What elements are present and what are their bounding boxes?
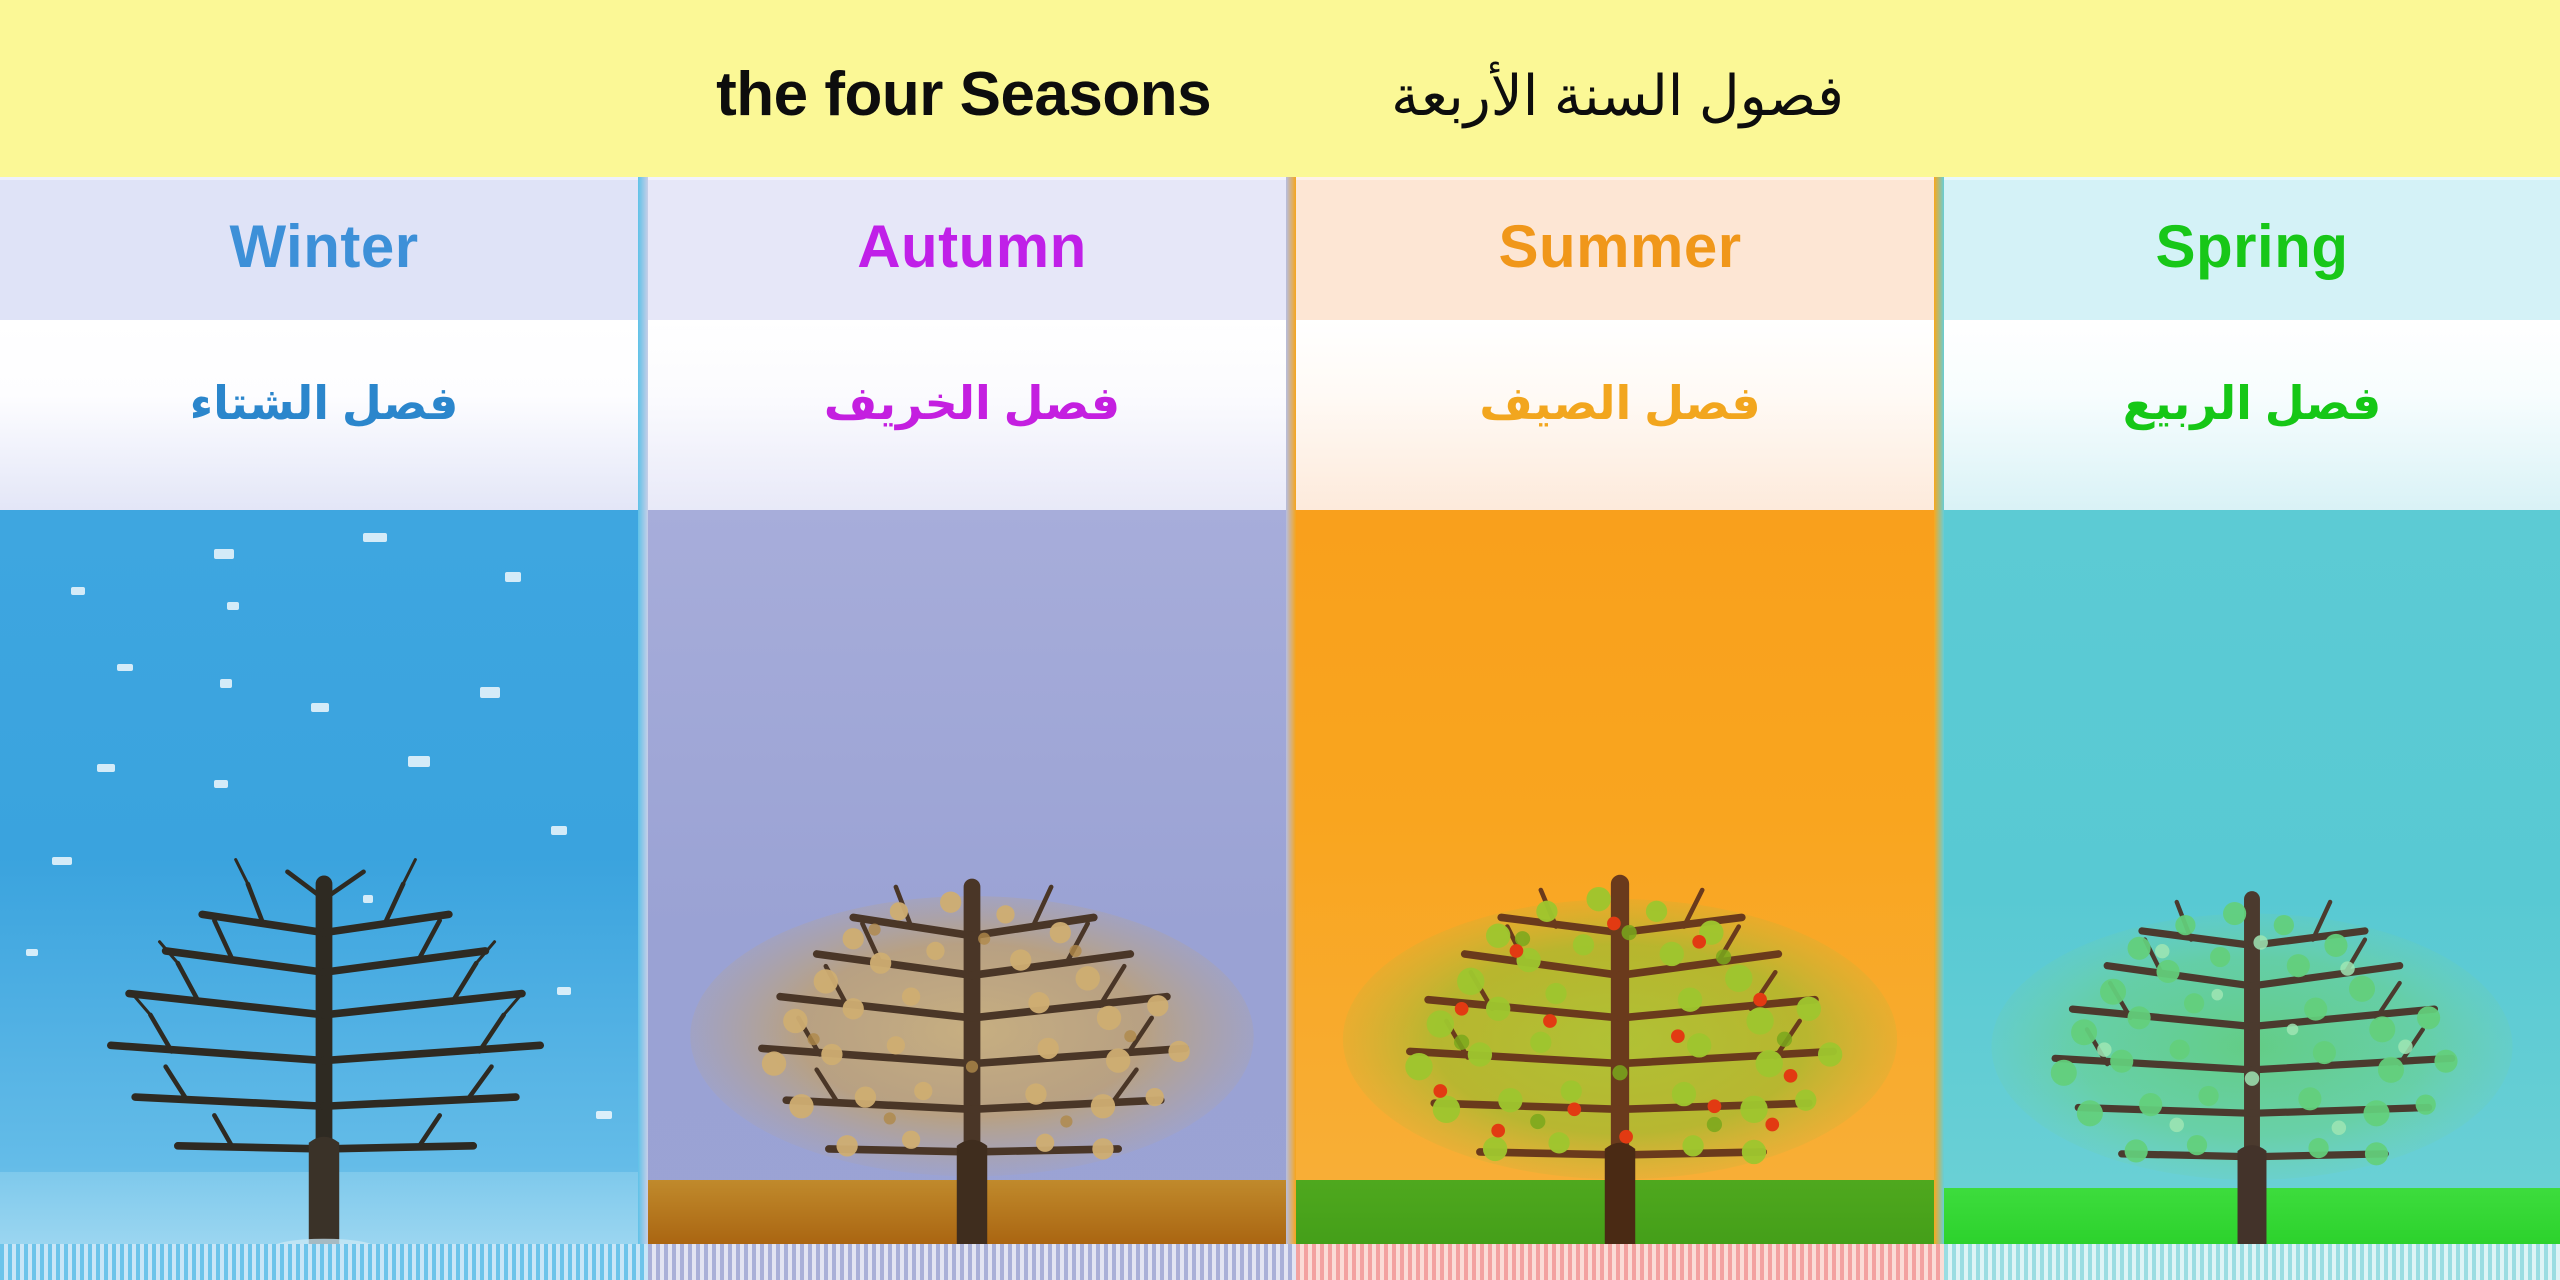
bottom-strip-spring bbox=[1944, 1244, 2560, 1280]
bottom-strip-summer bbox=[1296, 1244, 1944, 1280]
season-name-band-winter: Winter bbox=[0, 177, 648, 320]
header-titles: the four Seasons فصول السنة الأربعة bbox=[716, 59, 1844, 130]
season-column-spring[interactable]: Spring فصل الربيع bbox=[1944, 177, 2560, 1280]
tree-illustration-spring bbox=[1962, 695, 2541, 1249]
page-title-english: the four Seasons bbox=[716, 59, 1211, 130]
season-name-arabic-spring: فصل الربيع bbox=[2123, 376, 2381, 430]
seasons-poster: the four Seasons فصول السنة الأربعة Wint… bbox=[0, 0, 2560, 1280]
bottom-texture-strip bbox=[0, 1244, 2560, 1280]
season-scene-spring bbox=[1944, 510, 2560, 1280]
tree-illustration-autumn bbox=[667, 695, 1276, 1249]
season-name-arabic-summer: فصل الصيف bbox=[1479, 376, 1760, 430]
season-name-arabic-autumn: فصل الخريف bbox=[824, 376, 1120, 430]
season-arabic-band-spring: فصل الربيع bbox=[1944, 320, 2560, 510]
season-name-winter: Winter bbox=[229, 212, 418, 281]
poster-header: the four Seasons فصول السنة الأربعة bbox=[0, 0, 2560, 177]
season-scene-winter bbox=[0, 510, 648, 1280]
bottom-strip-autumn bbox=[648, 1244, 1296, 1280]
season-name-autumn: Autumn bbox=[857, 212, 1087, 281]
season-column-winter[interactable]: Winter فصل الشتاء bbox=[0, 177, 648, 1280]
column-divider-autumn-right bbox=[1286, 177, 1296, 1280]
season-name-band-autumn: Autumn bbox=[648, 177, 1296, 320]
column-divider-summer-right bbox=[1934, 177, 1944, 1280]
season-name-spring: Spring bbox=[2156, 212, 2349, 281]
bottom-strip-winter bbox=[0, 1244, 648, 1280]
column-divider-winter-right bbox=[638, 177, 648, 1280]
season-name-arabic-winter: فصل الشتاء bbox=[190, 376, 459, 430]
tree-illustration-summer bbox=[1315, 695, 1924, 1249]
season-columns: Winter فصل الشتاء bbox=[0, 177, 2560, 1280]
season-name-summer: Summer bbox=[1498, 212, 1741, 281]
page-title-arabic: فصول السنة الأربعة bbox=[1391, 63, 1844, 129]
season-arabic-band-winter: فصل الشتاء bbox=[0, 320, 648, 510]
season-scene-autumn bbox=[648, 510, 1296, 1280]
season-arabic-band-summer: فصل الصيف bbox=[1296, 320, 1944, 510]
season-column-summer[interactable]: Summer فصل الصيف bbox=[1296, 177, 1944, 1280]
season-scene-summer bbox=[1296, 510, 1944, 1280]
tree-illustration-winter bbox=[19, 695, 628, 1249]
season-column-autumn[interactable]: Autumn فصل الخريف bbox=[648, 177, 1296, 1280]
season-name-band-spring: Spring bbox=[1944, 177, 2560, 320]
season-arabic-band-autumn: فصل الخريف bbox=[648, 320, 1296, 510]
season-name-band-summer: Summer bbox=[1296, 177, 1944, 320]
